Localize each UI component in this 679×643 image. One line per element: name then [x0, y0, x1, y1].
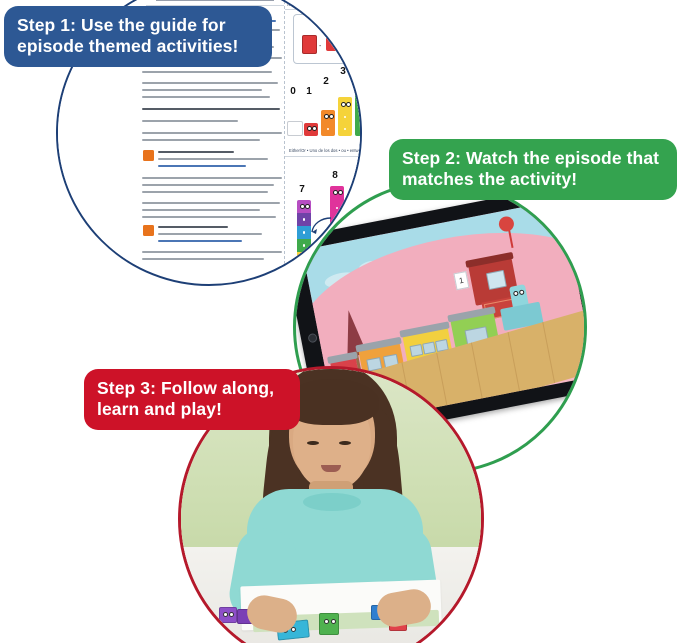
episode-badge-icon — [143, 150, 154, 161]
numberblock-row: 0 1 2 3 — [285, 66, 362, 138]
worksheet-text-line — [142, 96, 270, 98]
toy-cube-green — [319, 613, 339, 635]
child-eye-left — [307, 441, 319, 445]
tablet-camera-icon — [307, 333, 318, 344]
numberblock-label: 3 — [334, 66, 352, 77]
toy-cube-purple — [219, 607, 237, 623]
block-dot-icon — [361, 105, 362, 108]
worksheet-text-line — [142, 251, 282, 253]
step-1-line-1: Step 1: Use the guide for — [17, 15, 259, 36]
step-2-badge: Step 2: Watch the episode that matches t… — [389, 139, 677, 200]
numberblock-cube — [348, 33, 362, 55]
child-eye-right — [339, 441, 351, 445]
numberblock-label: 2 — [317, 76, 335, 87]
scene-window — [409, 344, 423, 357]
eye-icon — [329, 114, 334, 119]
worksheet-episode-title — [158, 151, 234, 153]
child-collar — [303, 493, 361, 511]
step-3-line-2: learn and play! — [97, 399, 287, 420]
step-3-line-1: Step 3: Follow along, — [97, 378, 287, 399]
numberblock-tower-0 — [287, 121, 303, 136]
eye-icon — [346, 102, 351, 107]
worksheet-caption-mid: Either/Or • Uno de los dos • ou • entwed… — [289, 148, 362, 153]
worksheet-text-line — [142, 202, 280, 204]
worksheet-text-line — [142, 139, 260, 141]
block-dot-icon — [344, 116, 347, 119]
ground-plank — [542, 322, 555, 383]
worksheet-text-line — [142, 191, 268, 193]
ground-plank — [508, 332, 521, 393]
worksheet-text-line — [142, 89, 262, 91]
worksheet-text-line — [142, 132, 282, 134]
numberblock-label: 4 — [351, 56, 362, 67]
worksheet-text-line — [158, 165, 246, 167]
step-1-badge: Step 1: Use the guide for episode themed… — [4, 6, 272, 67]
eye-icon — [361, 39, 362, 44]
worksheet-rule — [285, 156, 362, 157]
eye-icon — [358, 89, 362, 94]
worksheet-text-line — [142, 184, 274, 186]
numberblock-tower-3 — [338, 97, 352, 136]
worksheet-text-line — [158, 226, 228, 228]
eye-icon — [331, 619, 336, 624]
numberblock-label: 8 — [326, 170, 344, 181]
worksheet-text-line — [142, 216, 276, 218]
eye-icon — [229, 612, 234, 617]
block-dot-icon — [327, 128, 330, 131]
worksheet-text-line — [142, 258, 264, 260]
numberblock-label: 1 — [300, 86, 318, 97]
step-3-badge: Step 3: Follow along, learn and play! — [84, 369, 300, 430]
step-1-line-2: episode themed activities! — [17, 36, 259, 57]
number-card: 1 — [334, 17, 346, 32]
worksheet-text-line — [142, 82, 278, 84]
eye-icon — [312, 126, 317, 131]
scene-window — [486, 270, 507, 290]
numberblock-cube — [302, 35, 317, 54]
worksheet-text-line — [142, 177, 282, 179]
block-dot-icon — [344, 128, 347, 131]
block-dot-icon — [361, 129, 362, 132]
worksheet-text-line — [142, 108, 280, 110]
eye-icon — [519, 289, 525, 295]
minus-sign-icon: - — [319, 43, 321, 50]
step-2-line-2: matches the activity! — [402, 169, 664, 190]
step-2-line-1: Step 2: Watch the episode that — [402, 148, 664, 169]
eye-icon — [324, 619, 329, 624]
numberblock-tower-1 — [304, 123, 318, 136]
episode-badge-icon — [143, 225, 154, 236]
worksheet-rule — [285, 9, 362, 10]
worksheet-text-line — [142, 209, 260, 211]
worksheet-text-line — [158, 158, 268, 160]
worksheet-text-line — [142, 71, 272, 73]
numberblock-tower-4 — [355, 84, 362, 136]
worksheet-text-line — [142, 120, 238, 122]
eye-icon — [223, 612, 228, 617]
plus-sign-icon: + — [341, 43, 345, 50]
numberblock-tower-2 — [321, 110, 335, 136]
infographic-stage: Episode: The Legend of Big Tum Numberblo… — [0, 0, 679, 643]
eye-icon — [353, 39, 358, 44]
worksheet-text-line — [158, 233, 262, 235]
block-dot-icon — [361, 117, 362, 120]
worksheet-header-rule — [156, 0, 274, 1]
worksheet-caption-top: Numberblocks • Cómo construir — [287, 2, 346, 7]
worksheet-text-line — [158, 240, 242, 242]
numberblock-cube — [326, 37, 338, 51]
